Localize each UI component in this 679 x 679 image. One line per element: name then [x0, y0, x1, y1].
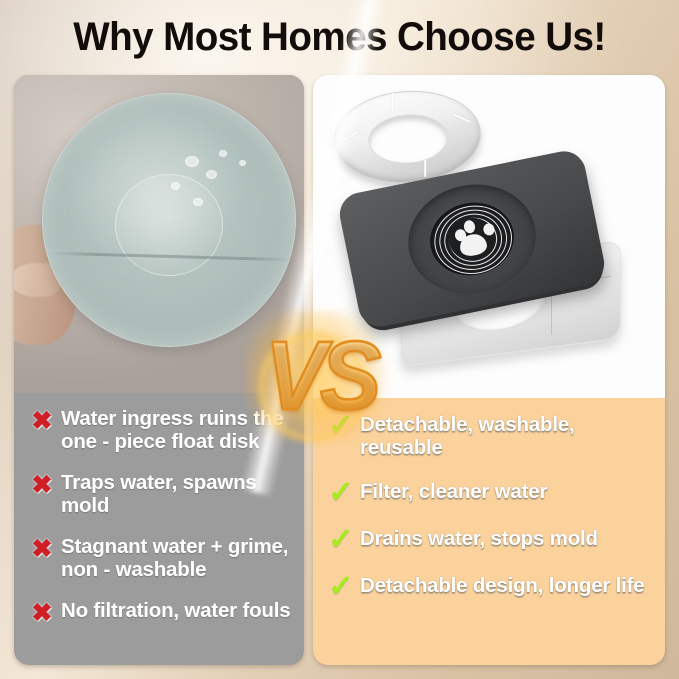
list-item-label: Water ingress ruins the one - piece floa… — [61, 407, 294, 453]
green-check-icon: ✓ — [327, 480, 355, 506]
ring-notch — [424, 160, 426, 177]
left-product-photo — [14, 75, 304, 393]
water-bubble — [185, 156, 199, 167]
left-drawback-list: ✖ Water ingress ruins the one - piece fl… — [14, 407, 304, 644]
list-item: ✖ Traps water, spawns mold — [28, 471, 294, 517]
green-check-icon: ✓ — [327, 574, 355, 600]
list-item-label: Detachable design, longer life — [360, 574, 653, 597]
list-item: ✖ No filtration, water fouls — [28, 599, 294, 626]
list-item: ✖ Stagnant water + grime, non - washable — [28, 535, 294, 581]
list-item: ✖ Water ingress ruins the one - piece fl… — [28, 407, 294, 453]
list-item-label: No filtration, water fouls — [61, 599, 294, 622]
float-disk-center — [115, 174, 223, 276]
list-item-label: Traps water, spawns mold — [61, 471, 294, 517]
red-cross-icon: ✖ — [28, 537, 56, 562]
right-benefit-list: ✓ Detachable, washable, reusable ✓ Filte… — [313, 413, 665, 621]
red-cross-icon: ✖ — [28, 473, 56, 498]
red-cross-icon: ✖ — [28, 601, 56, 626]
float-disk-illustration — [42, 93, 296, 347]
list-item-label: Stagnant water + grime, non - washable — [61, 535, 294, 581]
left-comparison-panel: ✖ Water ingress ruins the one - piece fl… — [14, 75, 304, 665]
page-title: Why Most Homes Choose Us! — [12, 14, 667, 60]
water-bubble — [239, 160, 246, 166]
green-check-icon: ✓ — [327, 413, 355, 439]
red-cross-icon: ✖ — [28, 409, 56, 434]
water-bubble — [206, 170, 217, 179]
water-bubble — [171, 182, 180, 190]
water-bubble — [219, 150, 227, 157]
right-comparison-panel: ✓ Detachable, washable, reusable ✓ Filte… — [313, 75, 665, 665]
infographic-canvas: Why Most Homes Choose Us! ✖ Water ingres… — [0, 0, 679, 679]
ring-notch — [391, 93, 393, 110]
list-item: ✓ Detachable design, longer life — [327, 574, 653, 600]
list-item-label: Drains water, stops mold — [360, 527, 653, 550]
list-item: ✓ Drains water, stops mold — [327, 527, 653, 553]
list-item-label: Filter, cleaner water — [360, 480, 653, 503]
list-item-label: Detachable, washable, reusable — [360, 413, 653, 459]
green-check-icon: ✓ — [327, 527, 355, 553]
water-bubble — [193, 198, 203, 206]
right-product-photo — [313, 75, 665, 398]
list-item: ✓ Detachable, washable, reusable — [327, 413, 653, 459]
list-item: ✓ Filter, cleaner water — [327, 480, 653, 506]
